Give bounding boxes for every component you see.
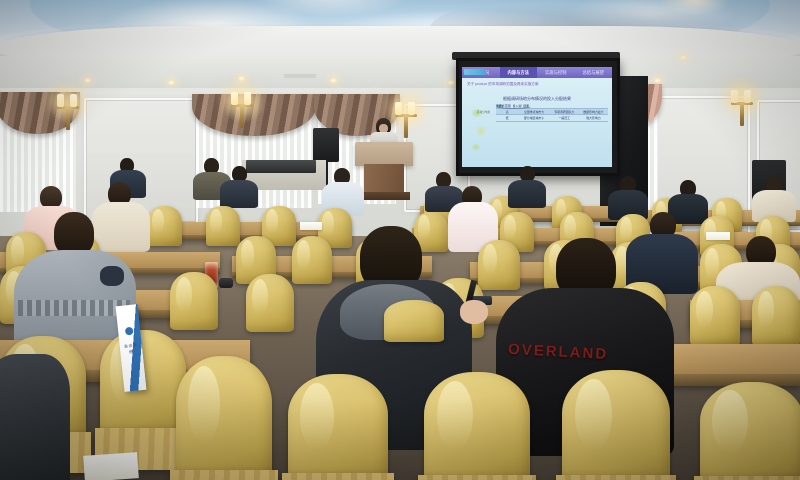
slide-table-header-row: 调研类别 范围 投入资源 结果 (496, 103, 531, 109)
cuff (100, 266, 124, 286)
podium-top (355, 142, 413, 166)
sconce-plate (66, 108, 70, 130)
slide-th-0: 调研类别 (496, 103, 503, 108)
slide-td-0-2 (550, 103, 579, 108)
chair (206, 206, 240, 246)
slide-map-graphic (465, 101, 495, 159)
paper-sheet (83, 452, 139, 480)
slide-td-1-3: 数据影响力最大 (579, 109, 608, 114)
sconce-candle-icon (57, 94, 64, 107)
slide-tab-3[interactable]: 总结与展望 (575, 67, 613, 78)
conference-room-photo: 市场概况 内容与方法 实施与控制 总结与展望 关于 product 的市场调研范… (0, 0, 800, 480)
sconce-candle-icon (408, 102, 415, 115)
booklet-title: 会议手册 (123, 342, 140, 356)
chair (292, 236, 332, 284)
torso (220, 180, 258, 208)
downlight-icon (680, 55, 687, 60)
slide-surface: 市场概况 内容与方法 实施与控制 总结与展望 关于 product 的市场调研范… (462, 67, 612, 167)
tea-glass-lid (219, 278, 233, 288)
torso (0, 354, 70, 480)
sconce-candle-icon (244, 92, 251, 105)
slide-th-2: 投入资源 (513, 103, 522, 108)
sconce-candle-icon (70, 94, 77, 107)
downlight-icon (84, 78, 91, 83)
hand (460, 300, 488, 324)
chair (562, 370, 670, 480)
sconce-plate (240, 106, 244, 128)
av-equipment (246, 160, 316, 173)
downlight-icon (168, 80, 175, 85)
chair (424, 372, 530, 480)
slide-td-1-2: 专项调研团队大 (550, 109, 579, 114)
slide-tab-2[interactable]: 实施与控制 (537, 67, 575, 78)
sconce-candle-icon (744, 90, 751, 103)
projection-screen: 市场概况 内容与方法 实施与控制 总结与展望 关于 product 的市场调研范… (456, 58, 620, 176)
booklet-logo (125, 327, 134, 336)
downlight-icon (654, 78, 661, 83)
sconce-plate (740, 104, 744, 126)
slide-subtitle: 关于 product 的市场调研范围及具体实施方案 (467, 82, 538, 87)
sconce-candle-icon (231, 92, 238, 105)
chair (700, 382, 800, 480)
slide-map-label: 区域分布图 (477, 111, 490, 114)
ceiling (0, 0, 800, 62)
chair (384, 300, 444, 342)
slide-table: 调研类别 范围 投入资源 结果 注重点 高 全国重点城市大 专项调研团队大 数据… (496, 103, 608, 122)
podium-base (358, 192, 410, 200)
paper-sheet (300, 222, 322, 230)
downlight-icon (330, 78, 337, 83)
sconce-candle-icon (731, 90, 738, 103)
slide-td-0-3 (579, 103, 608, 108)
podium-body (364, 164, 404, 194)
loudspeaker-center (313, 128, 339, 162)
chair (752, 286, 800, 346)
paper-sheet (706, 232, 730, 240)
slide-td-2-0: 低 (496, 115, 518, 120)
sweater-pattern (18, 300, 130, 316)
ceiling-vent (284, 74, 316, 78)
slide-td-1-1: 全国重点城市大 (518, 109, 549, 114)
slide-table-row: 低 部分地区城市小 一般员工 较大影响力 (496, 115, 608, 121)
slide-td-2-3: 较大影响力 (579, 115, 608, 120)
slide-logo (464, 69, 486, 75)
chair (246, 274, 294, 332)
torso (508, 180, 546, 208)
torso (92, 202, 150, 252)
slide-td-1-0: 高 (496, 109, 518, 114)
chair (148, 206, 182, 246)
slide-tab-1[interactable]: 内容与方法 (500, 67, 538, 78)
slide-th-3: 结果 (522, 103, 531, 108)
chair (170, 272, 218, 330)
slide-td-2-1: 部分地区城市小 (518, 115, 549, 120)
sconce-candle-icon (395, 102, 402, 115)
chair (690, 286, 740, 346)
chair (176, 356, 272, 480)
sconce-plate (404, 116, 408, 138)
slide-td-2-2: 一般员工 (550, 115, 579, 120)
downlight-icon (448, 80, 455, 85)
chair (288, 374, 388, 480)
chair (478, 240, 520, 290)
downlight-icon (238, 76, 245, 81)
slide-th-1: 范围 (503, 103, 513, 108)
